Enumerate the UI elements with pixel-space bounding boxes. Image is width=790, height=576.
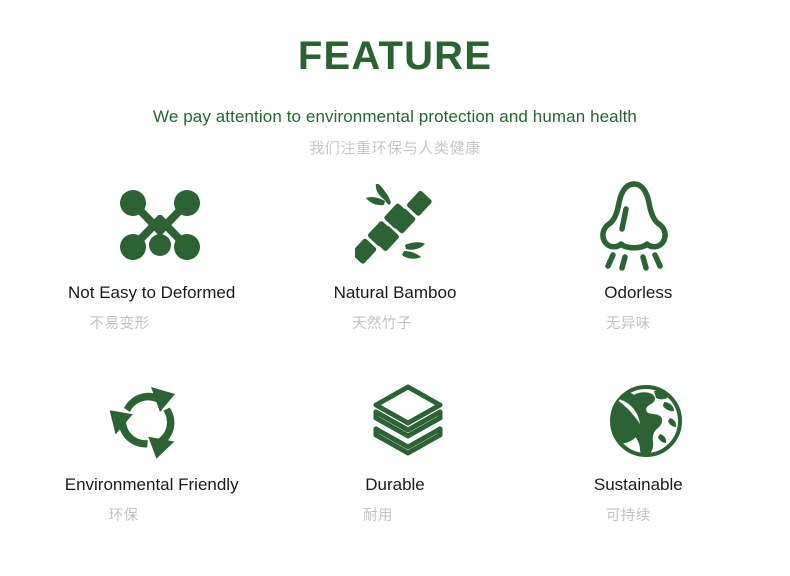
bamboo-icon xyxy=(355,179,435,271)
feature-label-english: Environmental Friendly xyxy=(65,475,239,495)
feature-item-durable: Durable 耐用 xyxy=(273,375,516,571)
subtitle-chinese: 我们注重环保与人类健康 xyxy=(0,141,790,158)
nose-icon xyxy=(596,179,672,271)
molecule-nodes-icon xyxy=(118,179,202,271)
section-header: FEATURE We pay attention to environmenta… xyxy=(0,0,790,157)
feature-label-english: Natural Bamboo xyxy=(334,283,457,303)
feature-label-chinese: 不易变形 xyxy=(90,316,150,333)
feature-label-chinese: 可持续 xyxy=(606,508,651,525)
subtitle-english: We pay attention to environmental protec… xyxy=(0,108,790,127)
feature-label-chinese: 环保 xyxy=(109,508,139,525)
feature-label-english: Durable xyxy=(365,475,425,495)
feature-item-not-easy-to-deformed: Not Easy to Deformed 不易变形 xyxy=(30,179,273,375)
feature-label-chinese: 天然竹子 xyxy=(352,316,412,333)
recycle-icon xyxy=(104,375,190,467)
page-title: FEATURE xyxy=(0,36,790,76)
feature-grid: Not Easy to Deformed 不易变形 xyxy=(0,179,790,571)
feature-item-sustainable: Sustainable 可持续 xyxy=(517,375,760,571)
layers-stack-icon xyxy=(370,375,446,467)
feature-label-english: Not Easy to Deformed xyxy=(68,283,235,303)
feature-item-odorless: Odorless 无异味 xyxy=(517,179,760,375)
feature-label-chinese: 耐用 xyxy=(363,508,393,525)
feature-section: FEATURE We pay attention to environmenta… xyxy=(0,0,790,576)
feature-label-english: Odorless xyxy=(604,283,672,303)
feature-label-chinese: 无异味 xyxy=(606,316,651,333)
feature-item-natural-bamboo: Natural Bamboo 天然竹子 xyxy=(273,179,516,375)
feature-label-english: Sustainable xyxy=(594,475,683,495)
feature-item-environmental-friendly: Environmental Friendly 环保 xyxy=(30,375,273,571)
globe-leaf-icon xyxy=(602,375,686,467)
